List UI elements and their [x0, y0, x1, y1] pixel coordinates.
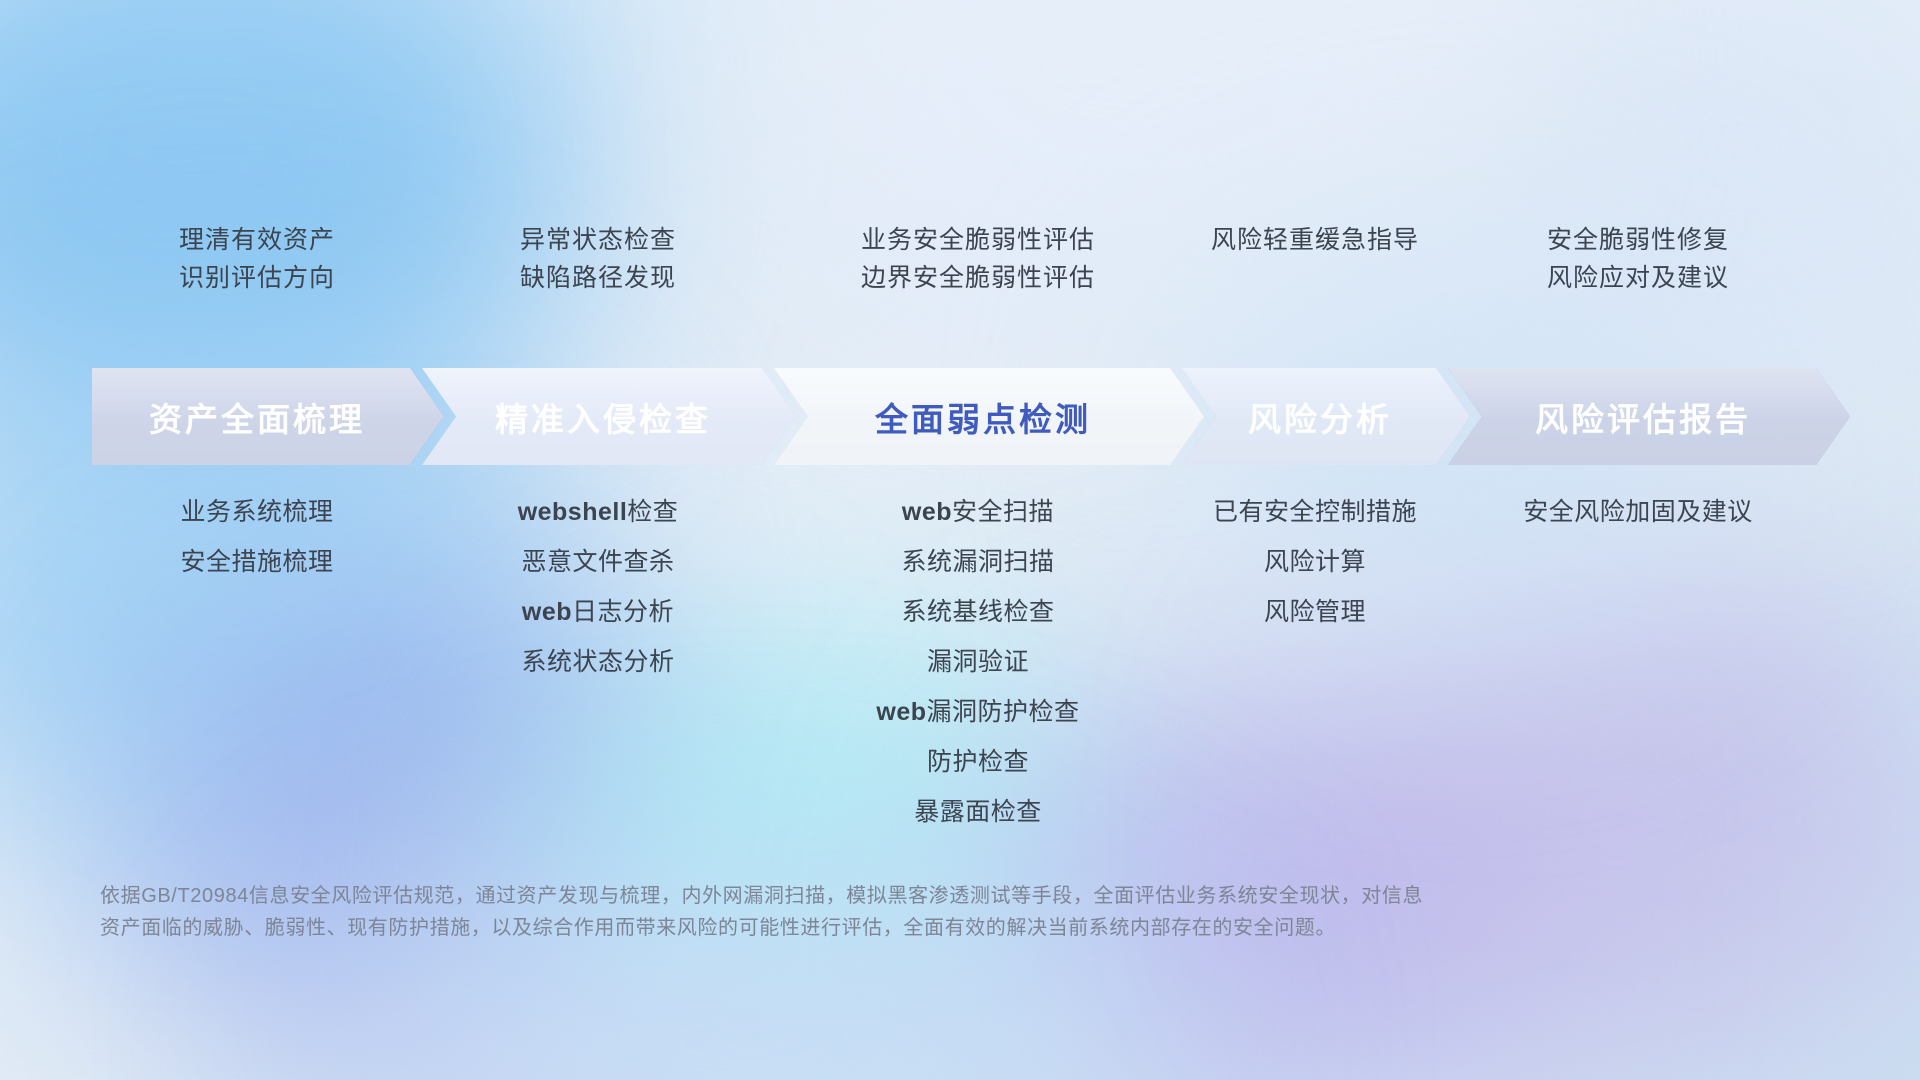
detail-item-text: 系统漏洞扫描 — [901, 548, 1054, 576]
footer-line-1: 依据GB/T20984信息安全风险评估规范，通过资产发现与梳理，内外网漏洞扫描，… — [100, 880, 1630, 912]
detail-item-emphasis: web — [902, 498, 952, 526]
detail-item-text: 业务系统梳理 — [180, 498, 333, 526]
top-caption: 识别评估方向 — [179, 266, 335, 291]
chevron-stage-4[interactable]: 风险分析 — [1182, 368, 1470, 465]
detail-group-2: webshell检查恶意文件查杀web日志分析系统状态分析 — [422, 500, 774, 675]
chevron-label: 全面弱点检测 — [875, 393, 1091, 441]
detail-item: 已有安全控制措施 — [1213, 500, 1417, 525]
top-caption: 业务安全脆弱性评估 — [861, 228, 1095, 253]
chevron-label: 精准入侵检查 — [495, 393, 711, 441]
detail-item-text: 暴露面检查 — [914, 798, 1042, 826]
detail-group-1: 业务系统梳理安全措施梳理 — [92, 500, 422, 575]
footer-note: 依据GB/T20984信息安全风险评估规范，通过资产发现与梳理，内外网漏洞扫描，… — [100, 880, 1630, 945]
top-caption: 异常状态检查 — [520, 228, 676, 253]
top-caption-group-4: 风险轻重缓急指导 — [1182, 228, 1448, 338]
top-caption: 安全脆弱性修复 — [1547, 228, 1729, 253]
chevron-stage-2[interactable]: 精准入侵检查 — [422, 368, 796, 465]
detail-item: 漏洞验证 — [927, 650, 1029, 675]
detail-item-text: 系统状态分析 — [521, 648, 674, 676]
detail-group-4: 已有安全控制措施风险计算风险管理 — [1182, 500, 1448, 625]
top-caption: 边界安全脆弱性评估 — [861, 266, 1095, 291]
chevron-label: 资产全面梳理 — [149, 393, 365, 441]
detail-item-text: 安全措施梳理 — [180, 548, 333, 576]
detail-item: 业务系统梳理 — [180, 500, 333, 525]
detail-item-emphasis: webshell — [518, 498, 628, 526]
chevron-label: 风险评估报告 — [1535, 393, 1751, 441]
detail-item-text: 系统基线检查 — [901, 598, 1054, 626]
detail-item: web日志分析 — [522, 600, 674, 625]
detail-item: 恶意文件查杀 — [521, 550, 674, 575]
detail-item: 防护检查 — [927, 750, 1029, 775]
top-caption-group-2: 异常状态检查缺陷路径发现 — [422, 228, 774, 338]
detail-item: 安全风险加固及建议 — [1523, 500, 1753, 525]
chevron-band: 资产全面梳理精准入侵检查全面弱点检测风险分析风险评估报告 — [92, 368, 1828, 465]
detail-item-text: 防护检查 — [927, 748, 1029, 776]
detail-item-text: 检查 — [627, 498, 678, 526]
top-caption: 风险应对及建议 — [1547, 266, 1729, 291]
detail-item-text: 安全风险加固及建议 — [1523, 498, 1753, 526]
detail-item-text: 已有安全控制措施 — [1213, 498, 1417, 526]
detail-item: 暴露面检查 — [914, 800, 1042, 825]
process-diagram: 理清有效资产识别评估方向异常状态检查缺陷路径发现业务安全脆弱性评估边界安全脆弱性… — [0, 0, 1920, 1080]
detail-item-emphasis: web — [522, 598, 572, 626]
detail-group-5: 安全风险加固及建议 — [1448, 500, 1828, 525]
top-caption: 理清有效资产 — [179, 228, 335, 253]
detail-item-text: 安全扫描 — [952, 498, 1054, 526]
detail-item-text: 漏洞验证 — [927, 648, 1029, 676]
footer-line-2: 资产面临的威胁、脆弱性、现有防护措施，以及综合作用而带来风险的可能性进行评估，全… — [100, 912, 1630, 944]
detail-item-text: 漏洞防护检查 — [927, 698, 1080, 726]
chevron-stage-1[interactable]: 资产全面梳理 — [92, 368, 444, 465]
top-captions-row: 理清有效资产识别评估方向异常状态检查缺陷路径发现业务安全脆弱性评估边界安全脆弱性… — [0, 228, 1920, 338]
top-caption-group-5: 安全脆弱性修复风险应对及建议 — [1448, 228, 1828, 338]
detail-item: web安全扫描 — [902, 500, 1054, 525]
detail-item: 系统漏洞扫描 — [901, 550, 1054, 575]
detail-item-text: 恶意文件查杀 — [521, 548, 674, 576]
detail-item-text: 风险计算 — [1264, 548, 1366, 576]
chevron-stage-5[interactable]: 风险评估报告 — [1448, 368, 1850, 465]
top-caption-group-3: 业务安全脆弱性评估边界安全脆弱性评估 — [774, 228, 1182, 338]
detail-item: webshell检查 — [518, 500, 679, 525]
detail-group-3: web安全扫描系统漏洞扫描系统基线检查漏洞验证web漏洞防护检查防护检查暴露面检… — [774, 500, 1182, 825]
top-caption: 风险轻重缓急指导 — [1211, 228, 1419, 253]
detail-item-text: 风险管理 — [1264, 598, 1366, 626]
detail-item-emphasis: web — [876, 698, 926, 726]
detail-item-text: 日志分析 — [572, 598, 674, 626]
detail-item: 系统状态分析 — [521, 650, 674, 675]
bottom-details-row: 业务系统梳理安全措施梳理webshell检查恶意文件查杀web日志分析系统状态分… — [0, 500, 1920, 825]
detail-item: 风险计算 — [1264, 550, 1366, 575]
top-caption-group-1: 理清有效资产识别评估方向 — [92, 228, 422, 338]
detail-item: web漏洞防护检查 — [876, 700, 1079, 725]
chevron-label: 风险分析 — [1248, 393, 1392, 441]
top-caption: 缺陷路径发现 — [520, 266, 676, 291]
chevron-stage-3[interactable]: 全面弱点检测 — [774, 368, 1204, 465]
detail-item: 风险管理 — [1264, 600, 1366, 625]
detail-item: 系统基线检查 — [901, 600, 1054, 625]
detail-item: 安全措施梳理 — [180, 550, 333, 575]
